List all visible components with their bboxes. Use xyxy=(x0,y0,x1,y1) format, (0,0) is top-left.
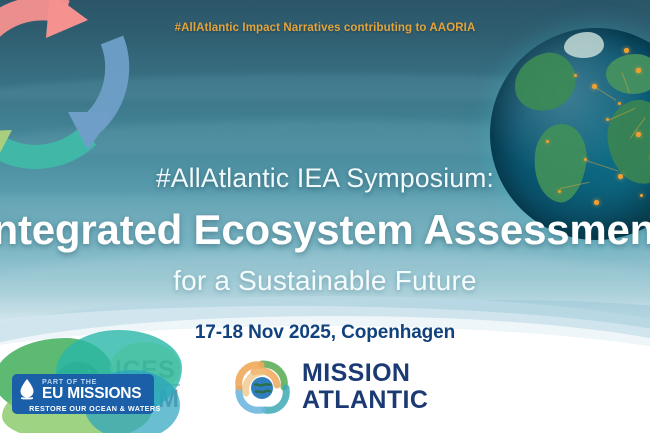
mission-label: MISSION xyxy=(302,361,428,386)
eu-missions-logo: PART OF THE EU MISSIONS RESTORE OUR OCEA… xyxy=(0,352,164,433)
mission-atlantic-logo: MISSION ATLANTIC xyxy=(232,358,428,416)
restore-ocean-label: RESTORE OUR OCEAN & WATERS xyxy=(24,404,164,413)
water-drop-icon xyxy=(19,378,35,400)
mission-atlantic-swirl-icon xyxy=(232,358,292,416)
page-title: Integrated Ecosystem Assessment xyxy=(0,206,650,254)
logo-strip: ICES CIEM xyxy=(0,352,650,433)
tagline: for a Sustainable Future xyxy=(0,265,650,297)
atlantic-label: ATLANTIC xyxy=(302,388,428,413)
eu-missions-label: EU MISSIONS xyxy=(42,385,141,403)
landmass xyxy=(564,32,604,58)
symposium-poster: #AllAtlantic Impact Narratives contribut… xyxy=(0,0,650,433)
symposium-subtitle: #AllAtlantic IEA Symposium: xyxy=(0,163,650,194)
eu-missions-badge: PART OF THE EU MISSIONS RESTORE OUR OCEA… xyxy=(12,374,154,414)
kicker-text: #AllAtlantic Impact Narratives contribut… xyxy=(0,22,650,34)
